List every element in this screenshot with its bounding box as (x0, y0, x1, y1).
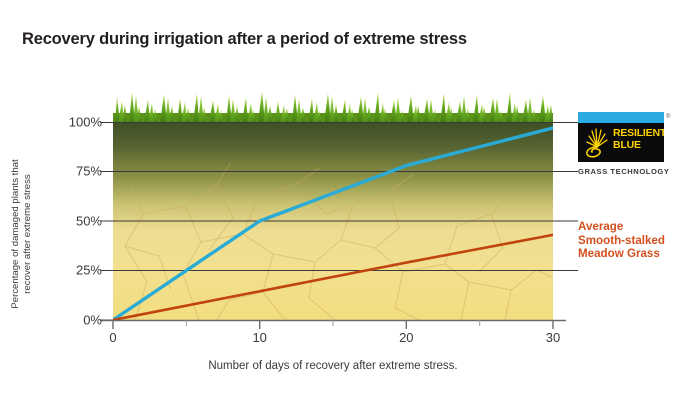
x-tick-label: 10 (252, 330, 266, 345)
legend-average-meadow-grass: Average Smooth-stalked Meadow Grass (578, 220, 665, 261)
y-tick-label: 25% (76, 263, 102, 278)
logo-word-line1: RESILIENT (613, 128, 664, 140)
grass-sprout-icon (582, 125, 612, 159)
x-tick-label: 20 (399, 330, 413, 345)
x-tick-label: 30 (546, 330, 560, 345)
legend-line-1: Average (578, 220, 665, 234)
y-tick-label: 50% (76, 214, 102, 229)
grass-svg (113, 87, 553, 123)
leader-lines (553, 123, 578, 271)
grass-decoration (113, 87, 553, 123)
registered-trademark-mark: ® (666, 114, 670, 120)
plot-area (113, 122, 553, 320)
y-axis-title-line1: Percentage of damaged plants that (10, 144, 22, 324)
y-axis-tick-labels: 100% 75% 50% 25% 0% (44, 0, 102, 420)
x-major-ticks (113, 320, 553, 329)
logo-top-bar (578, 112, 664, 123)
y-axis-title-line2: recover after extreme stress (22, 144, 34, 324)
logo-word-line2: BLUE (613, 140, 664, 152)
x-minor-ticks (186, 320, 479, 326)
chart-container: Recovery during irrigation after a perio… (0, 0, 700, 420)
y-axis-title: Percentage of damaged plants that recove… (10, 144, 34, 324)
y-tick-label: 0% (83, 313, 102, 328)
series-lines-svg (113, 122, 553, 320)
swirl-icon (587, 147, 600, 157)
legend-line-3: Meadow Grass (578, 247, 665, 261)
series-line-resilient-blue (113, 128, 553, 320)
x-tick-label: 0 (109, 330, 116, 345)
brand-logo: RESILIENT BLUE ® GRASS TECHNOLOGY (578, 112, 670, 176)
x-axis-title: Number of days of recovery after extreme… (113, 360, 553, 372)
logo-box: RESILIENT BLUE (578, 112, 664, 162)
logo-wordmark: RESILIENT BLUE (613, 128, 664, 151)
y-tick-label: 75% (76, 164, 102, 179)
logo-tagline: GRASS TECHNOLOGY (578, 167, 670, 176)
y-tick-label: 100% (69, 115, 102, 130)
legend-line-2: Smooth-stalked (578, 234, 665, 248)
